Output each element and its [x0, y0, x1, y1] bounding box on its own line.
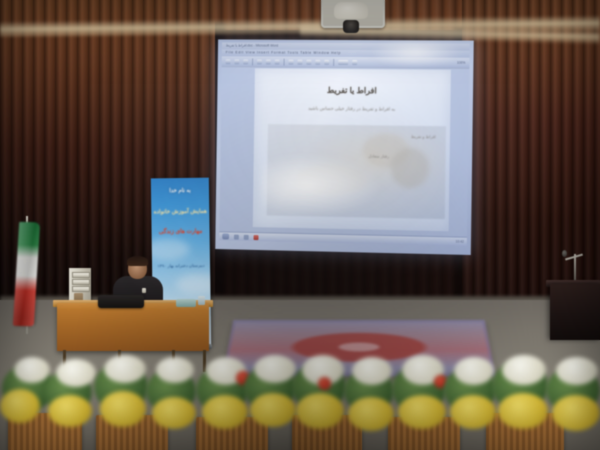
document-body-line-2: رفتار متعادل	[368, 153, 389, 158]
presenter-desk	[57, 303, 209, 351]
microphone-head	[562, 250, 567, 257]
redo-icon[interactable]	[324, 59, 329, 64]
undo-icon[interactable]	[315, 59, 320, 64]
projector-body	[334, 2, 368, 19]
banner-subheading: همایش آموزش خانواده	[151, 208, 209, 217]
document-subtitle: به افراط و تفریط در رفتار خیلی حساس باشی…	[254, 105, 450, 113]
zoom-icon[interactable]	[352, 60, 357, 65]
taskbar-icon-media[interactable]	[244, 234, 249, 239]
banner-heading: به نام خدا	[151, 187, 209, 196]
copy-icon[interactable]	[297, 59, 302, 64]
banner-footer: دبیرستان دخترانه بهار ۱۳۹۰	[152, 262, 210, 270]
new-document-icon[interactable]	[226, 59, 231, 64]
insert-table-icon[interactable]	[338, 59, 348, 64]
print-preview-icon[interactable]	[266, 59, 271, 64]
document-title: افراط یا تفریط	[255, 85, 451, 96]
lectern	[550, 284, 600, 340]
save-icon[interactable]	[243, 59, 248, 64]
banner-red-text: مهارت های زندگی	[152, 228, 210, 238]
projector-lens-icon	[343, 20, 359, 33]
print-icon[interactable]	[257, 59, 262, 64]
windows-taskbar: 10:42	[219, 231, 467, 246]
cut-icon[interactable]	[288, 59, 293, 64]
desk-cup	[198, 296, 205, 305]
projection-screen: افراط یا تفریط.doc - Microsoft Word File…	[215, 39, 474, 255]
lecture-hall-photo: افراط یا تفریط.doc - Microsoft Word File…	[0, 0, 600, 450]
app-toolbar: 100%	[222, 56, 470, 69]
toolbar-divider	[252, 58, 253, 65]
desk-laptop	[98, 295, 144, 308]
speaker-badge	[142, 288, 146, 293]
toolbar-divider	[333, 58, 334, 65]
document-page: افراط یا تفریط به افراط و تفریط در رفتار…	[253, 68, 451, 231]
taskbar-clock: 10:42	[456, 240, 464, 244]
start-button[interactable]	[222, 233, 229, 239]
foreground-flower-arrangements	[0, 355, 600, 450]
speaker-hair	[127, 256, 148, 266]
open-folder-icon[interactable]	[234, 59, 239, 64]
document-body-line-1: افراط و تفریط	[411, 134, 436, 139]
toolbar-zoom-value[interactable]: 100%	[457, 61, 465, 65]
toolbar-divider	[284, 58, 285, 65]
spellcheck-icon[interactable]	[275, 59, 280, 64]
paste-icon[interactable]	[306, 59, 311, 64]
taskbar-icon-explorer[interactable]	[234, 234, 239, 239]
projected-app-window: افراط یا تفریط.doc - Microsoft Word File…	[219, 42, 469, 245]
desk-box-item	[176, 299, 196, 307]
taskbar-icon-word[interactable]	[254, 235, 259, 240]
